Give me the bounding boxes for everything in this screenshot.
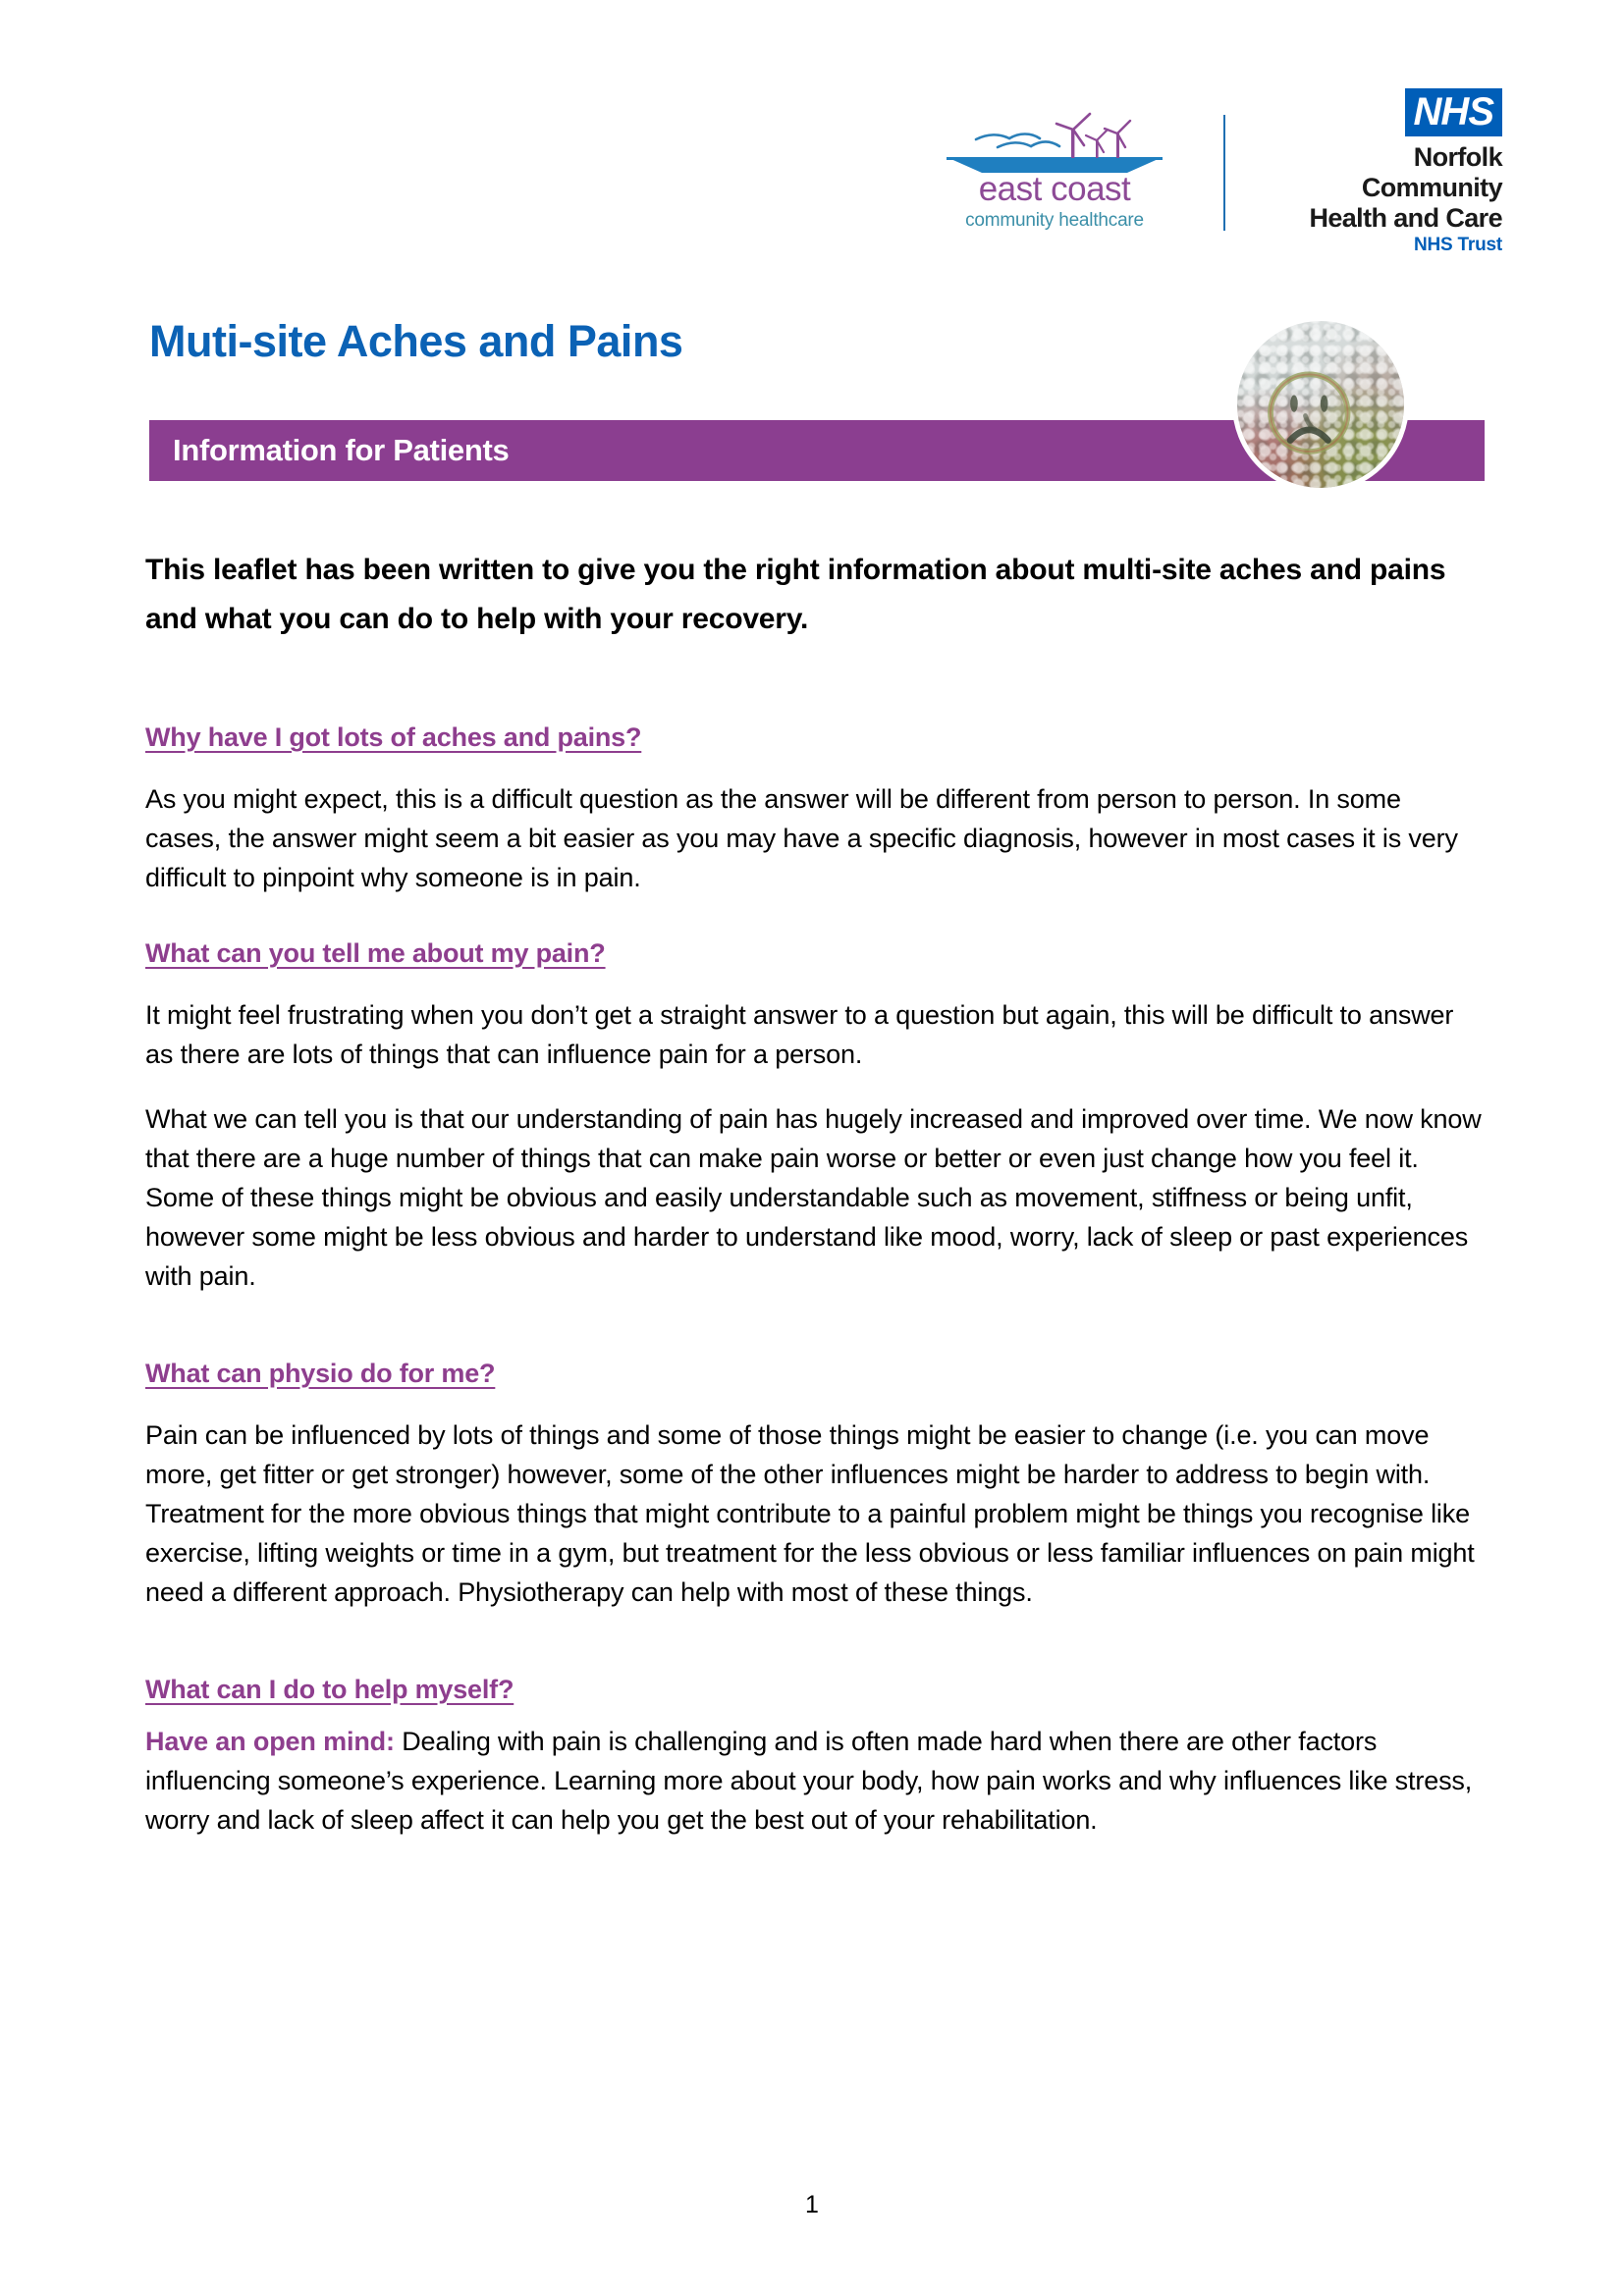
document-body: This leaflet has been written to give yo… [145, 546, 1483, 1840]
document-page: east coast community healthcare NHS Norf… [0, 0, 1624, 2296]
section-paragraph: What we can tell you is that our underst… [145, 1099, 1483, 1296]
coast-wind-turbines-icon [941, 108, 1168, 175]
ecch-logo-name: east coast [941, 171, 1168, 208]
nhs-trust-name-line1: Norfolk Community [1286, 142, 1502, 203]
section-heading-about-my-pain: What can you tell me about my pain? [145, 936, 1483, 970]
section-paragraph: Pain can be influenced by lots of things… [145, 1415, 1483, 1612]
page-number: 1 [0, 2191, 1624, 2218]
nhs-trust-name-line2: Health and Care [1286, 203, 1502, 234]
sad-face-on-rainy-window-photo [1232, 316, 1409, 493]
ecch-logo: east coast community healthcare [941, 108, 1168, 238]
nhs-trust-type: NHS Trust [1286, 234, 1502, 257]
section-heading-why-aches-and-pains: Why have I got lots of aches and pains? [145, 721, 1483, 754]
run-in-label: Have an open mind: [145, 1727, 395, 1756]
vertical-divider-icon [1223, 115, 1225, 231]
section-paragraph: It might feel frustrating when you don’t… [145, 995, 1483, 1074]
banner-label: Information for Patients [173, 433, 509, 468]
nhs-logo: NHS Norfolk Community Health and Care NH… [1286, 88, 1502, 257]
nhs-badge: NHS [1405, 88, 1502, 136]
lead-paragraph: This leaflet has been written to give yo… [145, 546, 1483, 644]
page-title: Muti-site Aches and Pains [149, 316, 682, 367]
ecch-logo-subtitle: community healthcare [941, 210, 1168, 231]
section-heading-help-myself: What can I do to help myself? [145, 1673, 1483, 1706]
section-heading-what-can-physio-do: What can physio do for me? [145, 1357, 1483, 1390]
section-paragraph: As you might expect, this is a difficult… [145, 779, 1483, 897]
section-paragraph-open-mind: Have an open mind: Dealing with pain is … [145, 1722, 1483, 1840]
logo-bar: east coast community healthcare NHS Norf… [0, 94, 1624, 251]
sad-face-drawing-icon [1261, 361, 1358, 464]
